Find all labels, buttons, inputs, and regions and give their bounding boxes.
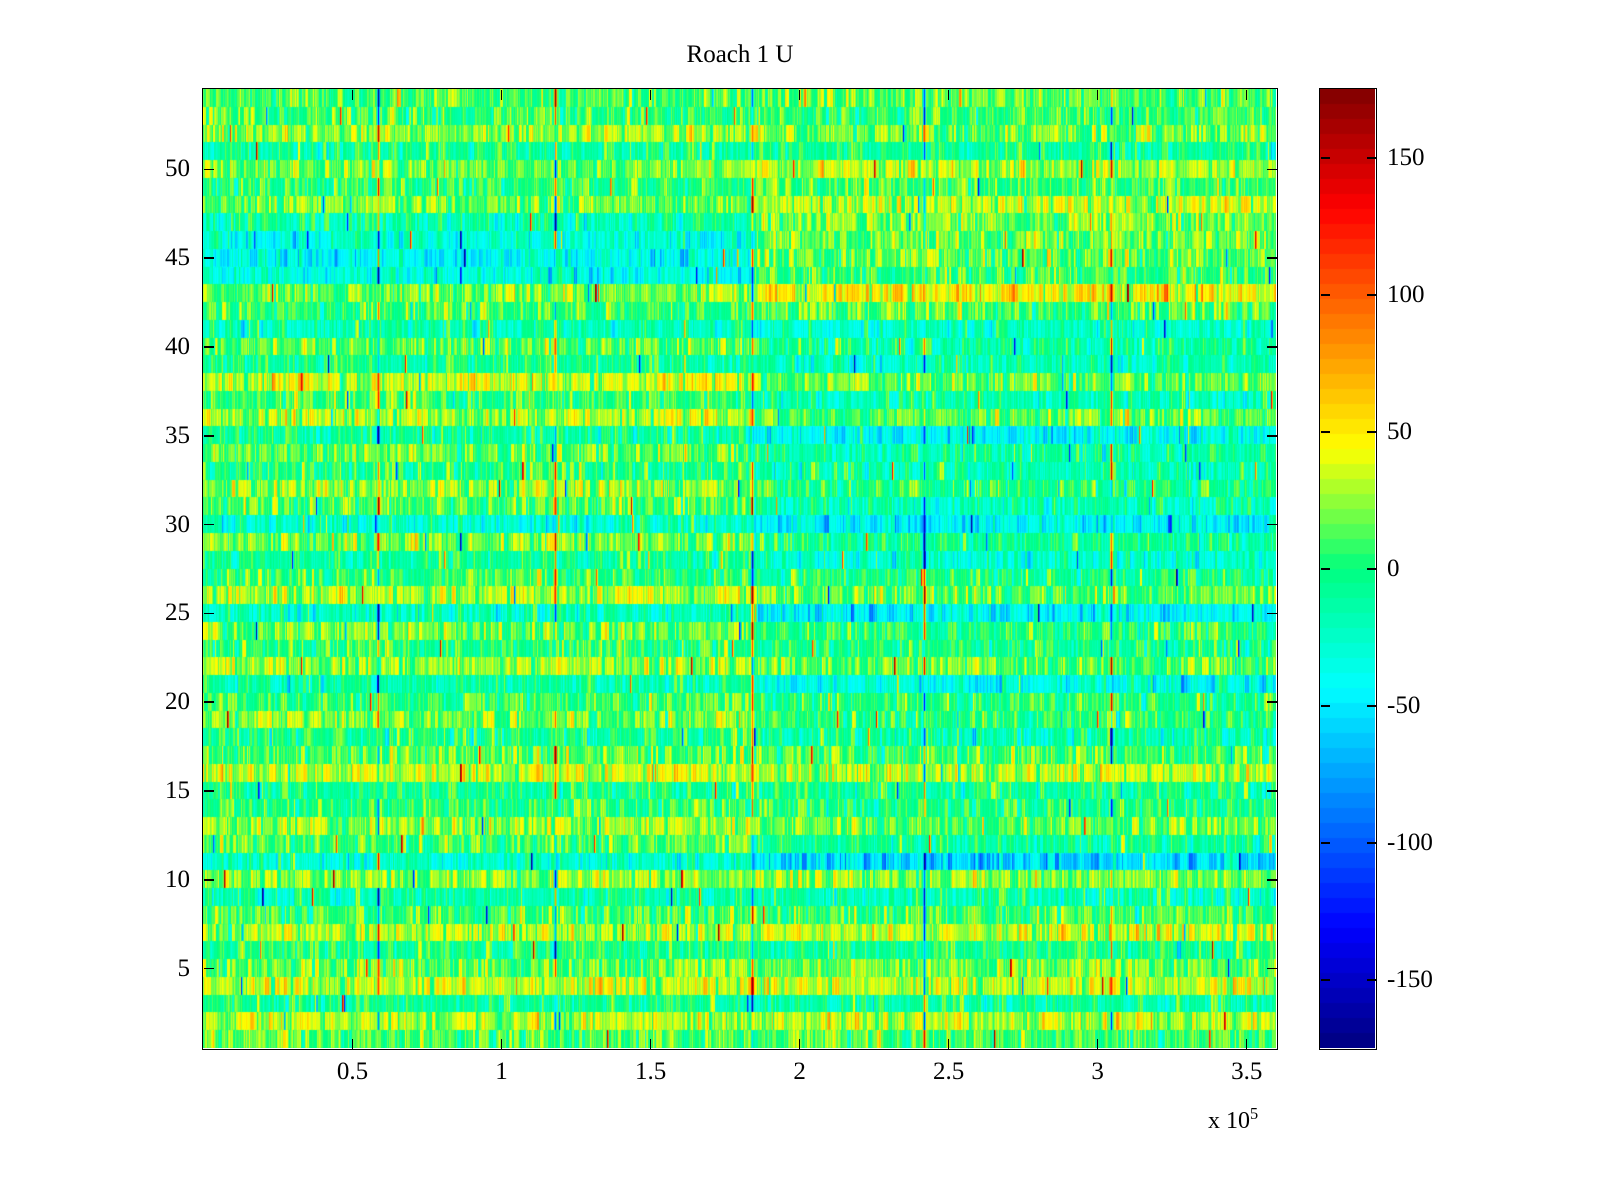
- y-axis-tick-left: [204, 968, 214, 970]
- colorbar-tick-label: 100: [1387, 281, 1425, 309]
- y-axis-tick-label: 15: [112, 777, 190, 805]
- colorbar-tick-label: 50: [1387, 418, 1412, 446]
- y-axis-tick-right: [1267, 790, 1277, 792]
- figure-canvas: Roach 1 U 0.511.522.533.5510152025303540…: [0, 0, 1600, 1200]
- colorbar-tick-right: [1367, 294, 1376, 296]
- page-title: Roach 1 U: [202, 40, 1278, 70]
- x-axis-tick-label: 3.5: [1231, 1058, 1262, 1086]
- colorbar-tick-right: [1367, 705, 1376, 707]
- x-axis-tick-bottom: [1246, 1039, 1248, 1049]
- x-axis-tick-label: 3: [1091, 1058, 1104, 1086]
- x-axis-exponent-label: x 105: [1208, 1108, 1258, 1134]
- x-exponent-power: 5: [1250, 1104, 1258, 1123]
- y-axis-tick-right: [1267, 613, 1277, 615]
- x-axis-tick-top: [501, 90, 503, 100]
- colorbar-tick-label: -150: [1387, 966, 1433, 994]
- y-axis-tick-left: [204, 879, 214, 881]
- y-axis-tick-right: [1267, 701, 1277, 703]
- colorbar-tick-right: [1367, 842, 1376, 844]
- y-axis-tick-left: [204, 257, 214, 259]
- colorbar-tick-label: -50: [1387, 692, 1420, 720]
- x-axis-tick-bottom: [948, 1039, 950, 1049]
- x-axis-tick-label: 1: [495, 1058, 508, 1086]
- x-axis-tick-top: [1246, 90, 1248, 100]
- y-axis-tick-label: 20: [112, 688, 190, 716]
- y-axis-tick-right: [1267, 346, 1277, 348]
- x-axis-tick-label: 2.5: [933, 1058, 964, 1086]
- colorbar-tick-right: [1367, 979, 1376, 981]
- x-axis-tick-top: [650, 90, 652, 100]
- heatmap-image[interactable]: [203, 89, 1276, 1048]
- y-axis-tick-right: [1267, 524, 1277, 526]
- colorbar-tick-left: [1321, 294, 1330, 296]
- y-axis-tick-right: [1267, 968, 1277, 970]
- colorbar-tick-left: [1321, 157, 1330, 159]
- y-axis-tick-label: 40: [112, 333, 190, 361]
- x-axis-tick-label: 1.5: [635, 1058, 666, 1086]
- x-axis-tick-top: [799, 90, 801, 100]
- colorbar-tick-left: [1321, 842, 1330, 844]
- x-exponent-mantissa: x 10: [1208, 1108, 1250, 1134]
- y-axis-tick-label: 10: [112, 866, 190, 894]
- x-axis-tick-bottom: [501, 1039, 503, 1049]
- heatmap-axes[interactable]: [202, 88, 1278, 1050]
- y-axis-tick-label: 50: [112, 155, 190, 183]
- x-axis-tick-bottom: [799, 1039, 801, 1049]
- y-axis-tick-right: [1267, 257, 1277, 259]
- y-axis-tick-left: [204, 613, 214, 615]
- x-axis-tick-bottom: [1097, 1039, 1099, 1049]
- colorbar-tick-label: 0: [1387, 555, 1400, 583]
- colorbar-tick-left: [1321, 705, 1330, 707]
- y-axis-tick-left: [204, 701, 214, 703]
- y-axis-tick-right: [1267, 435, 1277, 437]
- y-axis-tick-label: 35: [112, 422, 190, 450]
- y-axis-tick-label: 25: [112, 599, 190, 627]
- y-axis-tick-label: 30: [112, 511, 190, 539]
- colorbar-tick-label: -100: [1387, 829, 1433, 857]
- x-axis-tick-top: [1097, 90, 1099, 100]
- y-axis-tick-left: [204, 524, 214, 526]
- colorbar-tick-right: [1367, 568, 1376, 570]
- colorbar-tick-left: [1321, 431, 1330, 433]
- y-axis-tick-right: [1267, 169, 1277, 171]
- x-axis-tick-label: 0.5: [337, 1058, 368, 1086]
- colorbar-tick-label: 150: [1387, 144, 1425, 172]
- x-axis-tick-bottom: [650, 1039, 652, 1049]
- y-axis-tick-left: [204, 346, 214, 348]
- y-axis-tick-left: [204, 169, 214, 171]
- x-axis-tick-label: 2: [793, 1058, 806, 1086]
- colorbar-tick-right: [1367, 431, 1376, 433]
- x-axis-tick-bottom: [352, 1039, 354, 1049]
- x-axis-tick-top: [948, 90, 950, 100]
- y-axis-tick-left: [204, 790, 214, 792]
- y-axis-tick-right: [1267, 879, 1277, 881]
- colorbar-tick-left: [1321, 568, 1330, 570]
- colorbar-tick-right: [1367, 157, 1376, 159]
- y-axis-tick-label: 5: [112, 955, 190, 983]
- y-axis-tick-label: 45: [112, 244, 190, 272]
- colorbar-tick-left: [1321, 979, 1330, 981]
- y-axis-tick-left: [204, 435, 214, 437]
- x-axis-tick-top: [352, 90, 354, 100]
